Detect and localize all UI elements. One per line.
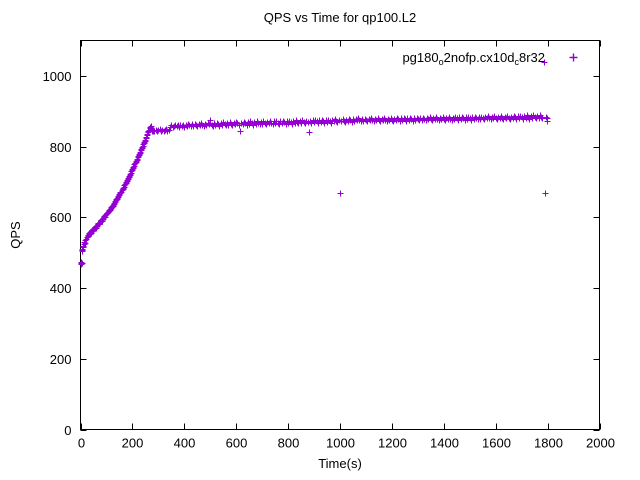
legend-series-label: pg180o2nofp.cx10dc8r32 xyxy=(402,50,545,67)
y-tick-label: 0 xyxy=(64,423,71,438)
y-tick-label: 200 xyxy=(50,352,72,367)
x-tick-label: 2000 xyxy=(586,436,615,451)
y-tick-label: 800 xyxy=(50,140,72,155)
x-tick-label: 600 xyxy=(226,436,248,451)
plot-background xyxy=(0,0,640,480)
legend-label-segment: pg180 xyxy=(402,50,438,65)
y-tick-label: 1000 xyxy=(43,69,72,84)
x-tick-label: 1200 xyxy=(378,436,407,451)
qps-vs-time-scatter-plot: QPS vs Time for qp100.L2 020040060080010… xyxy=(0,0,640,480)
x-tick-label: 800 xyxy=(278,436,300,451)
y-axis-title: QPS xyxy=(8,221,23,249)
x-axis-title: Time(s) xyxy=(318,456,362,471)
x-tick-label: 200 xyxy=(122,436,144,451)
x-tick-label: 1000 xyxy=(326,436,355,451)
x-tick-label: 1600 xyxy=(482,436,511,451)
y-tick-label: 400 xyxy=(50,281,72,296)
chart-figure: QPS vs Time for qp100.L2 020040060080010… xyxy=(0,0,640,480)
x-tick-label: 1800 xyxy=(534,436,563,451)
legend-label-segment: 8r32 xyxy=(519,50,545,65)
x-tick-label: 1400 xyxy=(430,436,459,451)
chart-title: QPS vs Time for qp100.L2 xyxy=(264,10,416,25)
x-tick-label: 400 xyxy=(174,436,196,451)
x-tick-label: 0 xyxy=(78,436,85,451)
legend-label-segment: 2nofp.cx10d xyxy=(444,50,515,65)
y-tick-label: 600 xyxy=(50,210,72,225)
